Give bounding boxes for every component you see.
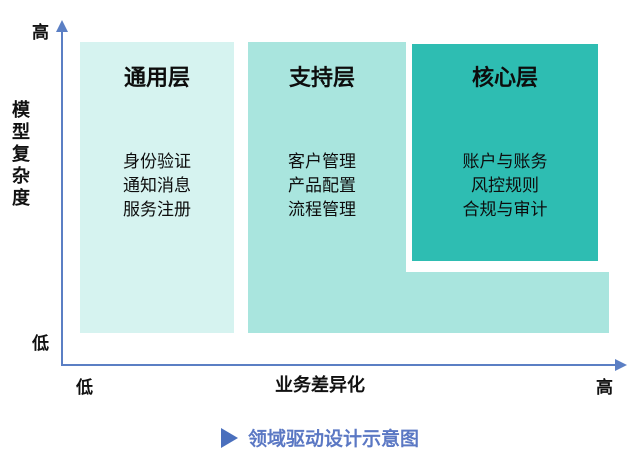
diagram-caption: 领域驱动设计示意图 — [0, 424, 640, 451]
y-axis-title: 模型复杂度 — [8, 100, 34, 210]
support-layer-item: 流程管理 — [248, 198, 396, 222]
general-layer-item: 身份验证 — [80, 150, 234, 174]
general-layer-item: 服务注册 — [80, 198, 234, 222]
support-layer-item: 客户管理 — [248, 150, 396, 174]
support-layer-item: 产品配置 — [248, 174, 396, 198]
x-axis-arrow-icon — [615, 359, 627, 371]
y-axis-low-tick-label: 低 — [32, 329, 49, 354]
core-layer-item: 合规与审计 — [412, 198, 598, 222]
triangle-right-icon — [221, 428, 238, 448]
support-layer-item-list: 客户管理 产品配置 流程管理 — [248, 150, 396, 222]
x-axis-line — [61, 364, 617, 366]
core-layer-item-list: 账户与账务 风控规则 合规与审计 — [412, 150, 598, 222]
y-axis-arrow-icon — [56, 20, 68, 32]
core-layer-item: 账户与账务 — [412, 150, 598, 174]
general-layer-box[interactable]: 通用层 身份验证 通知消息 服务注册 — [80, 42, 234, 333]
support-layer-box[interactable]: 支持层 客户管理 产品配置 流程管理 — [248, 42, 396, 333]
general-layer-item: 通知消息 — [80, 174, 234, 198]
support-layer-title: 支持层 — [248, 60, 396, 92]
general-layer-item-list: 身份验证 通知消息 服务注册 — [80, 150, 234, 222]
y-axis-line — [61, 30, 63, 366]
general-layer-title: 通用层 — [80, 60, 234, 92]
y-axis-high-tick-label: 高 — [32, 18, 49, 43]
x-axis-title: 业务差异化 — [0, 371, 640, 397]
support-layer-band-lower — [396, 272, 609, 333]
diagram-caption-text: 领域驱动设计示意图 — [248, 424, 419, 451]
core-layer-title: 核心层 — [412, 60, 598, 92]
core-layer-item: 风控规则 — [412, 174, 598, 198]
core-layer-box[interactable]: 核心层 账户与账务 风控规则 合规与审计 — [410, 42, 600, 263]
ddd-quadrant-diagram: 高 低 低 高 模型复杂度 业务差异化 通用层 身份验证 通知消息 服务注册 支… — [0, 0, 640, 473]
